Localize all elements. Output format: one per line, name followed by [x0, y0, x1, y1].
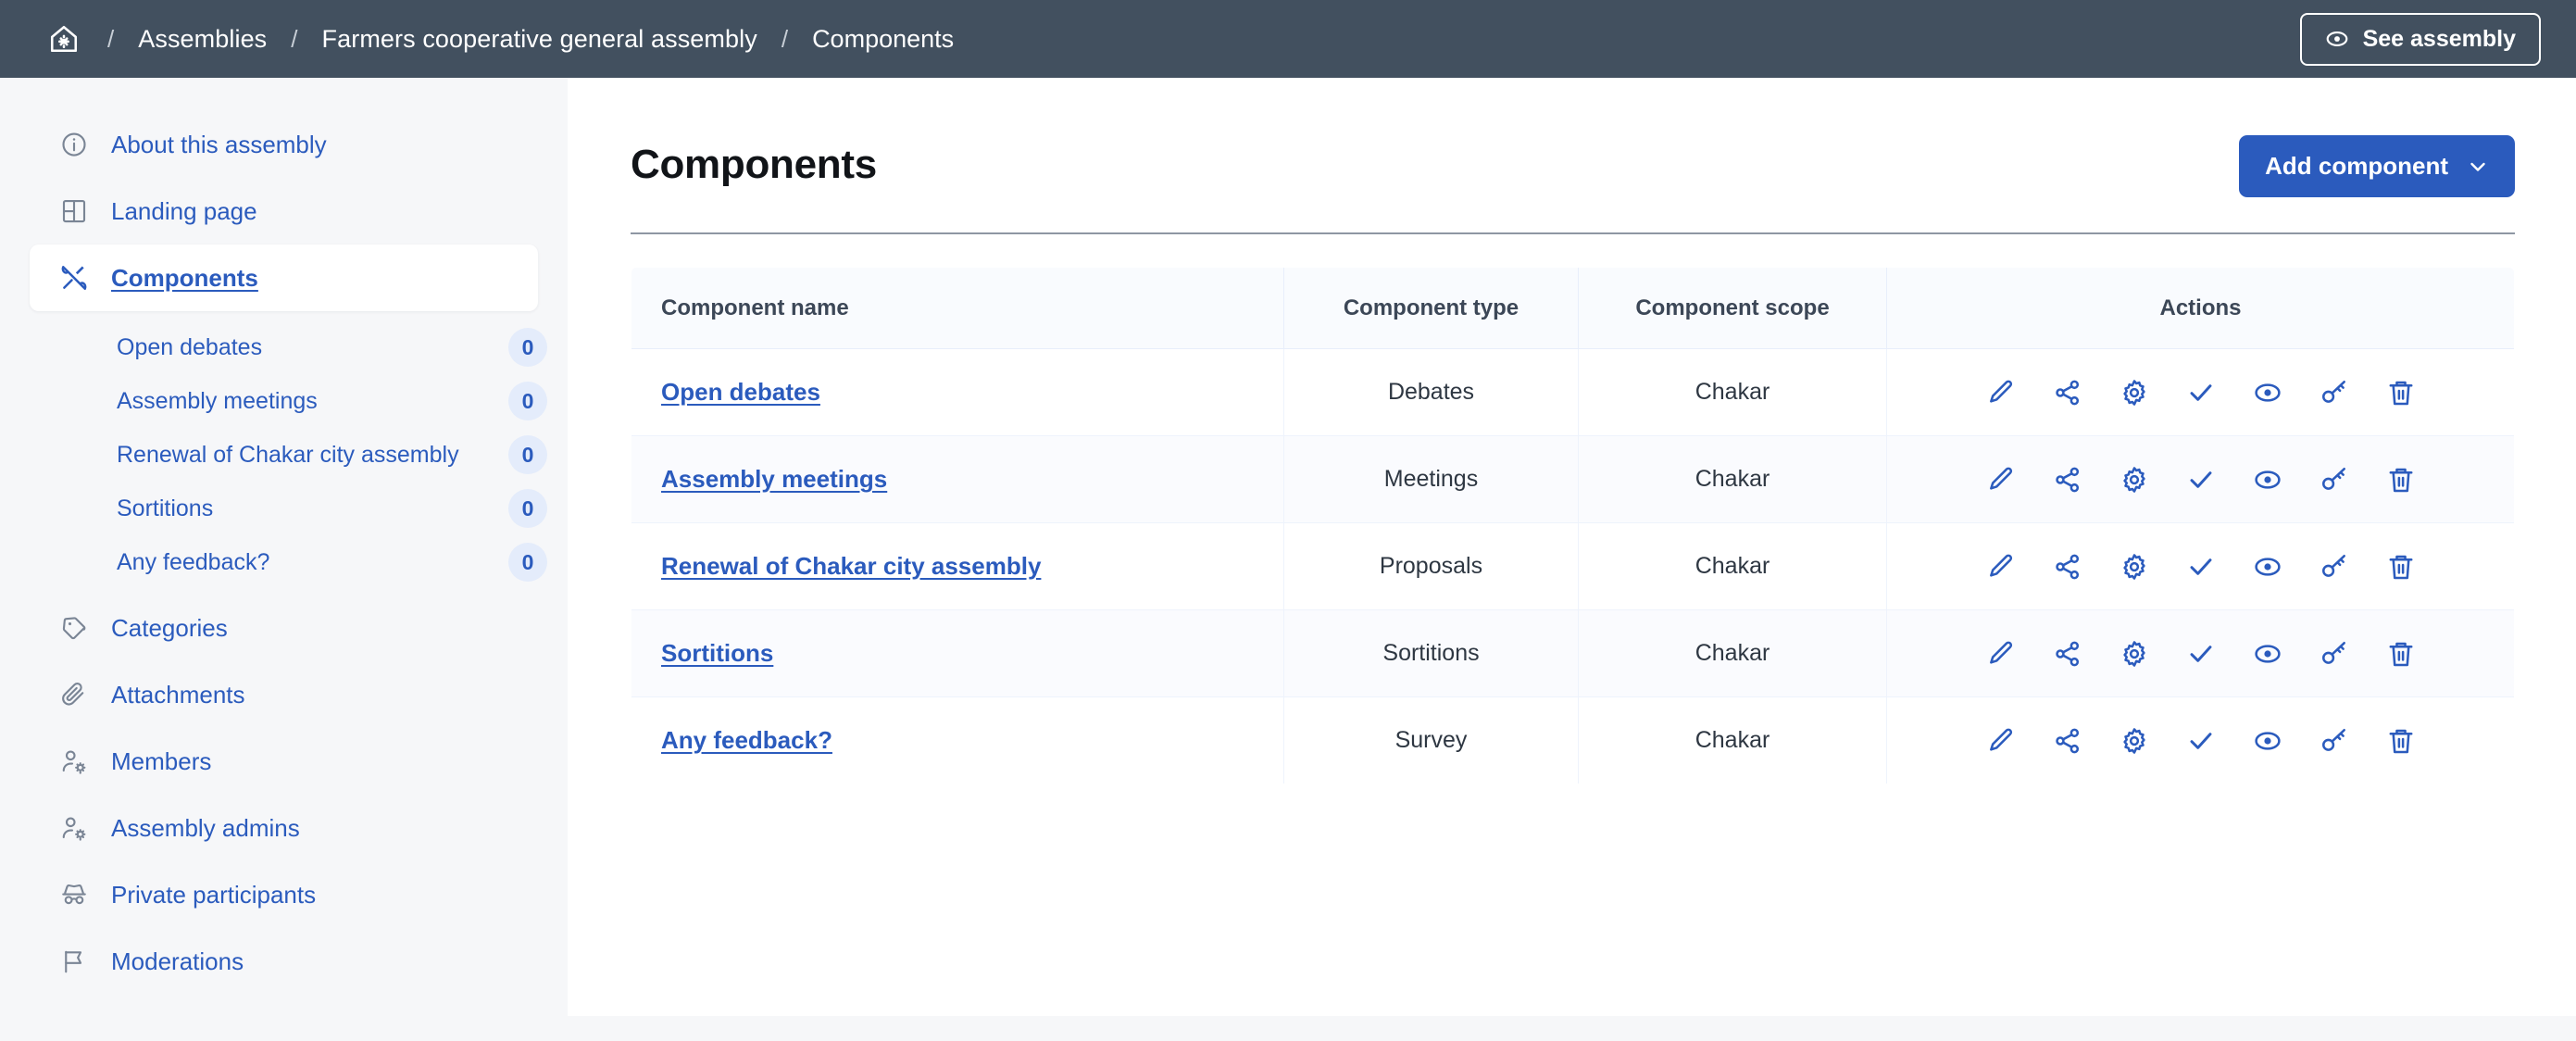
pencil-icon[interactable]: [1982, 722, 2020, 759]
sidebar-subitem-label: Any feedback?: [117, 549, 495, 576]
breadcrumb-item-assembly-name[interactable]: Farmers cooperative general assembly: [322, 25, 757, 54]
eye-icon[interactable]: [2249, 374, 2286, 411]
share-icon[interactable]: [2049, 461, 2086, 498]
sidebar-item-private-participants[interactable]: Private participants: [30, 861, 538, 928]
cell-component-scope: Chakar: [1579, 436, 1887, 523]
main-header: Components Add component: [631, 135, 2515, 234]
sidebar-subitem-count-badge: 0: [508, 489, 547, 528]
cell-component-scope: Chakar: [1579, 610, 1887, 697]
sidebar-subitem-count-badge: 0: [508, 382, 547, 420]
sidebar-item-label: Categories: [111, 614, 228, 643]
sidebar-subitem-count-badge: 0: [508, 435, 547, 474]
check-icon[interactable]: [2182, 374, 2220, 411]
row-actions: [1896, 722, 2505, 759]
key-icon[interactable]: [2316, 461, 2353, 498]
eye-icon: [2325, 27, 2349, 51]
key-icon[interactable]: [2316, 374, 2353, 411]
see-assembly-label: See assembly: [2363, 26, 2516, 53]
cell-component-type: Survey: [1284, 697, 1579, 784]
sidebar-subitem-sortitions[interactable]: Sortitions 0: [0, 482, 568, 535]
gear-icon[interactable]: [2116, 722, 2153, 759]
share-icon[interactable]: [2049, 548, 2086, 585]
gear-icon[interactable]: [2116, 635, 2153, 672]
table-body: Open debates Debates Chakar: [631, 349, 2515, 784]
sidebar-item-label: Members: [111, 747, 211, 776]
table-row: Open debates Debates Chakar: [631, 349, 2515, 436]
row-actions: [1896, 461, 2505, 498]
eye-icon[interactable]: [2249, 722, 2286, 759]
sidebar-item-assembly-admins[interactable]: Assembly admins: [30, 795, 538, 861]
components-table-wrapper: Component name Component type Component …: [631, 267, 2515, 784]
sidebar-item-categories[interactable]: Categories: [30, 595, 538, 661]
sidebar-subitem-open-debates[interactable]: Open debates 0: [0, 320, 568, 374]
components-table: Component name Component type Component …: [631, 267, 2515, 784]
user-settings-icon: [57, 745, 91, 778]
row-actions: [1896, 635, 2505, 672]
key-icon[interactable]: [2316, 722, 2353, 759]
sidebar-subitem-label: Renewal of Chakar city assembly: [117, 442, 495, 469]
sidebar-item-label: Landing page: [111, 197, 257, 226]
pencil-icon[interactable]: [1982, 374, 2020, 411]
layout-grid-icon: [57, 194, 91, 228]
sidebar-subitem-label: Assembly meetings: [117, 388, 495, 415]
pencil-icon[interactable]: [1982, 635, 2020, 672]
cell-actions: [1887, 436, 2515, 523]
trash-icon[interactable]: [2382, 722, 2420, 759]
breadcrumb-item-components: Components: [812, 25, 954, 54]
cell-actions: [1887, 349, 2515, 436]
breadcrumb-separator-1: /: [83, 27, 138, 51]
row-actions: [1896, 548, 2505, 585]
cell-component-type: Meetings: [1284, 436, 1579, 523]
trash-icon[interactable]: [2382, 374, 2420, 411]
breadcrumb-separator-3: /: [757, 27, 812, 51]
cell-component-name: Open debates: [631, 349, 1284, 436]
breadcrumb-item-assemblies[interactable]: Assemblies: [138, 25, 267, 54]
column-header-component-name: Component name: [631, 268, 1284, 349]
sidebar-subitem-count-badge: 0: [508, 543, 547, 582]
sidebar-item-label: Components: [111, 264, 258, 293]
share-icon[interactable]: [2049, 722, 2086, 759]
check-icon[interactable]: [2182, 635, 2220, 672]
component-link-open-debates[interactable]: Open debates: [661, 378, 820, 406]
sidebar-item-components[interactable]: Components: [30, 245, 538, 311]
cell-component-type: Proposals: [1284, 523, 1579, 610]
table-row: Assembly meetings Meetings Chakar: [631, 436, 2515, 523]
gear-icon[interactable]: [2116, 461, 2153, 498]
main-content: Components Add component: [568, 78, 2576, 1016]
cell-component-name: Sortitions: [631, 610, 1284, 697]
top-bar: / Assemblies / Farmers cooperative gener…: [0, 0, 2576, 78]
share-icon[interactable]: [2049, 374, 2086, 411]
sidebar-subitem-label: Sortitions: [117, 495, 495, 522]
trash-icon[interactable]: [2382, 548, 2420, 585]
share-icon[interactable]: [2049, 635, 2086, 672]
page-body: About this assembly Landing page: [0, 78, 2576, 1041]
trash-icon[interactable]: [2382, 461, 2420, 498]
sidebar-item-about-this-assembly[interactable]: About this assembly: [30, 111, 538, 178]
row-actions: [1896, 374, 2505, 411]
cell-actions: [1887, 697, 2515, 784]
paperclip-icon: [57, 678, 91, 711]
flag-icon: [57, 945, 91, 978]
sidebar-item-attachments[interactable]: Attachments: [30, 661, 538, 728]
table-row: Any feedback? Survey Chakar: [631, 697, 2515, 784]
page-title: Components: [631, 135, 877, 185]
user-settings-icon: [57, 811, 91, 845]
eye-icon[interactable]: [2249, 461, 2286, 498]
cell-component-type: Debates: [1284, 349, 1579, 436]
incognito-icon: [57, 878, 91, 911]
gear-icon[interactable]: [2116, 374, 2153, 411]
key-icon[interactable]: [2316, 635, 2353, 672]
sidebar-item-label: Attachments: [111, 681, 245, 709]
check-icon[interactable]: [2182, 548, 2220, 585]
info-circle-icon: [57, 128, 91, 161]
cell-component-name: Renewal of Chakar city assembly: [631, 523, 1284, 610]
tools-icon: [57, 261, 91, 295]
sidebar-item-label: Assembly admins: [111, 814, 300, 843]
sidebar-subitem-any-feedback[interactable]: Any feedback? 0: [0, 535, 568, 589]
sidebar-item-label: Moderations: [111, 947, 244, 976]
cell-component-type: Sortitions: [1284, 610, 1579, 697]
table-row: Sortitions Sortitions Chakar: [631, 610, 2515, 697]
component-link-any-feedback[interactable]: Any feedback?: [661, 726, 832, 754]
breadcrumb: / Assemblies / Farmers cooperative gener…: [44, 19, 2300, 58]
cell-component-scope: Chakar: [1579, 349, 1887, 436]
sidebar-item-landing-page[interactable]: Landing page: [30, 178, 538, 245]
sidebar: About this assembly Landing page: [0, 78, 568, 1041]
see-assembly-button[interactable]: See assembly: [2300, 13, 2541, 66]
admin-page: / Assemblies / Farmers cooperative gener…: [0, 0, 2576, 1041]
sidebar-item-moderations[interactable]: Moderations: [30, 928, 538, 995]
eye-icon[interactable]: [2249, 548, 2286, 585]
trash-icon[interactable]: [2382, 635, 2420, 672]
add-component-button[interactable]: Add component: [2239, 135, 2515, 197]
component-link-assembly-meetings[interactable]: Assembly meetings: [661, 465, 887, 493]
cell-component-name: Assembly meetings: [631, 436, 1284, 523]
tag-icon: [57, 611, 91, 645]
key-icon[interactable]: [2316, 548, 2353, 585]
cell-component-scope: Chakar: [1579, 523, 1887, 610]
chevron-down-icon: [2467, 156, 2489, 178]
breadcrumb-separator-2: /: [267, 27, 321, 51]
column-header-component-scope: Component scope: [1579, 268, 1887, 349]
add-component-label: Add component: [2265, 152, 2448, 181]
component-link-renewal-of-chakar-city-assembly[interactable]: Renewal of Chakar city assembly: [661, 552, 1041, 580]
gear-icon[interactable]: [2116, 548, 2153, 585]
check-icon[interactable]: [2182, 461, 2220, 498]
sidebar-subitem-label: Open debates: [117, 334, 495, 361]
sidebar-item-members[interactable]: Members: [30, 728, 538, 795]
sidebar-subitem-assembly-meetings[interactable]: Assembly meetings 0: [0, 374, 568, 428]
sidebar-subitem-renewal-of-chakar-city-assembly[interactable]: Renewal of Chakar city assembly 0: [0, 428, 568, 482]
cell-actions: [1887, 523, 2515, 610]
home-gear-icon[interactable]: [44, 19, 83, 58]
column-header-actions: Actions: [1887, 268, 2515, 349]
sidebar-item-label: About this assembly: [111, 131, 327, 159]
sidebar-item-label: Private participants: [111, 881, 316, 909]
check-icon[interactable]: [2182, 722, 2220, 759]
sidebar-subnav-components: Open debates 0 Assembly meetings 0 Renew…: [0, 320, 568, 589]
pencil-icon[interactable]: [1982, 461, 2020, 498]
pencil-icon[interactable]: [1982, 548, 2020, 585]
component-link-sortitions[interactable]: Sortitions: [661, 639, 773, 667]
cell-component-scope: Chakar: [1579, 697, 1887, 784]
eye-icon[interactable]: [2249, 635, 2286, 672]
table-header-row: Component name Component type Component …: [631, 268, 2515, 349]
column-header-component-type: Component type: [1284, 268, 1579, 349]
cell-component-name: Any feedback?: [631, 697, 1284, 784]
sidebar-subitem-count-badge: 0: [508, 328, 547, 367]
cell-actions: [1887, 610, 2515, 697]
table-row: Renewal of Chakar city assembly Proposal…: [631, 523, 2515, 610]
